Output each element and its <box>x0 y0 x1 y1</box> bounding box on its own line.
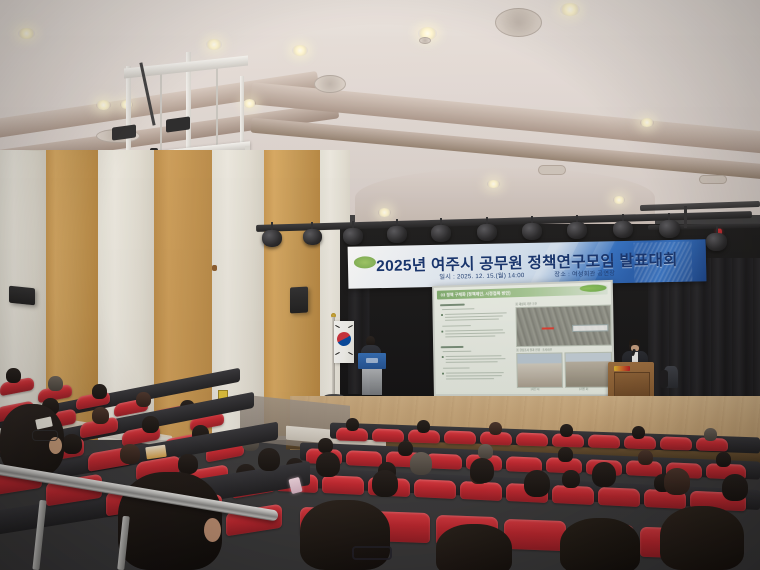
attendee-head <box>470 458 494 483</box>
attendee-head <box>346 418 359 431</box>
taegeuk-symbol <box>335 329 354 348</box>
slide-photo-1-caption: [사진 1] <box>531 387 539 391</box>
attendee-head <box>120 444 140 464</box>
stage-light <box>567 222 587 239</box>
slide-street-photo-2 <box>564 352 612 388</box>
ceiling-light <box>560 3 580 16</box>
wall-door-knob <box>212 265 217 271</box>
stage-light <box>659 220 680 238</box>
seat <box>372 428 404 442</box>
stage-light <box>522 223 542 240</box>
attendee-head <box>489 422 502 435</box>
seat <box>516 432 548 446</box>
attendee-head <box>704 428 717 441</box>
seat <box>598 487 640 507</box>
slide-caption-photos: ▣ 현장조사 결과 전경 · 조사사진 <box>516 348 552 353</box>
attendee-head <box>417 420 430 433</box>
seat <box>588 434 620 448</box>
wall-speaker <box>290 287 308 314</box>
presentation-slide: 03 정책 구체화 (정책제안, 시정접목 방안) <box>434 282 613 394</box>
seat <box>444 430 476 444</box>
stage-light <box>387 226 407 243</box>
lectern-panel <box>614 372 649 397</box>
attendee-glasses-icon <box>32 430 58 441</box>
podium-emblem <box>366 358 378 363</box>
attendee-head <box>398 441 413 456</box>
attendee-head <box>6 368 21 383</box>
podium-base <box>362 369 382 395</box>
attendee-head <box>558 447 573 462</box>
attendee-head <box>318 438 333 453</box>
lectern-nameplate <box>614 366 630 371</box>
ceiling-vent <box>699 175 727 184</box>
attendee-head <box>410 452 432 475</box>
slide-street-photo-1 <box>516 352 563 388</box>
slide-caption-map: ▣ 대상지 기반 구간 <box>515 302 536 307</box>
attendee-head <box>638 450 653 465</box>
attendee-head <box>722 474 748 501</box>
seat <box>414 479 456 499</box>
stage-light <box>303 229 322 245</box>
attendee-head-foreground <box>560 518 640 570</box>
auditorium-photo: 2025년 여주시 공무원 정책연구모임 발표대회 일시 : 2025. 12.… <box>0 0 760 570</box>
seat <box>504 519 566 551</box>
stage-light <box>613 221 633 238</box>
ceiling-light <box>292 45 308 56</box>
wall-speaker <box>9 286 35 306</box>
staff-chair <box>660 370 668 388</box>
event-banner: 2025년 여주시 공무원 정책연구모임 발표대회 일시 : 2025. 12.… <box>348 239 707 288</box>
seat <box>322 475 364 495</box>
slide-photo-2-caption: [사진 2] <box>579 387 588 391</box>
ceiling-light <box>96 100 111 110</box>
attendee-head <box>48 376 63 391</box>
slide-map-marker <box>542 327 554 329</box>
stage-light <box>262 230 282 247</box>
ceiling-light <box>206 39 222 50</box>
attendee-head <box>632 426 645 439</box>
attendee-glasses-icon <box>352 546 392 560</box>
stage-light <box>706 233 727 251</box>
attendee-head <box>178 454 198 474</box>
presenter-hair <box>629 339 640 345</box>
attendee-head <box>62 434 82 454</box>
slide-header-text: 03 정책 구체화 (정책제안, 시정접목 방안) <box>441 290 511 298</box>
attendee-head <box>372 470 398 497</box>
ceiling-light <box>18 28 35 39</box>
ceiling-vent <box>314 75 346 93</box>
attendee-head <box>478 444 493 459</box>
ceiling-light <box>640 118 654 127</box>
banner-date: 일시 : 2025. 12. 15.(월) 14:00 <box>439 272 524 281</box>
ceiling-light <box>613 196 625 204</box>
stage-light <box>343 228 363 245</box>
attendee-head <box>316 452 340 477</box>
attendee-head <box>592 462 616 487</box>
ceiling-vent <box>495 8 542 37</box>
ceiling-light <box>487 180 500 188</box>
attendee-head <box>716 452 731 467</box>
ceiling-vent <box>538 165 566 175</box>
attendee-head <box>562 470 580 488</box>
ceiling-vent <box>419 37 431 44</box>
attendee-head <box>524 470 550 497</box>
stage-light <box>431 225 451 242</box>
attendee-ear <box>204 518 221 542</box>
attendee-head-foreground <box>660 506 744 570</box>
attendee-head <box>142 416 159 433</box>
slide-map-label <box>572 324 608 332</box>
banner-place: 장소 : 여성회관 공연장 <box>554 270 615 278</box>
ceiling-light <box>243 99 256 108</box>
attendee-head <box>258 448 280 471</box>
attendee-head <box>560 424 573 437</box>
attendee-head <box>92 407 109 424</box>
seat <box>346 450 382 467</box>
attendee-head-foreground <box>436 524 512 570</box>
ceiling-light <box>378 208 391 217</box>
attendee-head <box>136 392 151 407</box>
projection-screen: 03 정책 구체화 (정책제안, 시정접목 방안) <box>432 280 615 396</box>
stage-light <box>477 224 497 241</box>
attendee-head <box>92 384 107 399</box>
seat <box>660 436 692 450</box>
attendee-head <box>664 468 690 495</box>
